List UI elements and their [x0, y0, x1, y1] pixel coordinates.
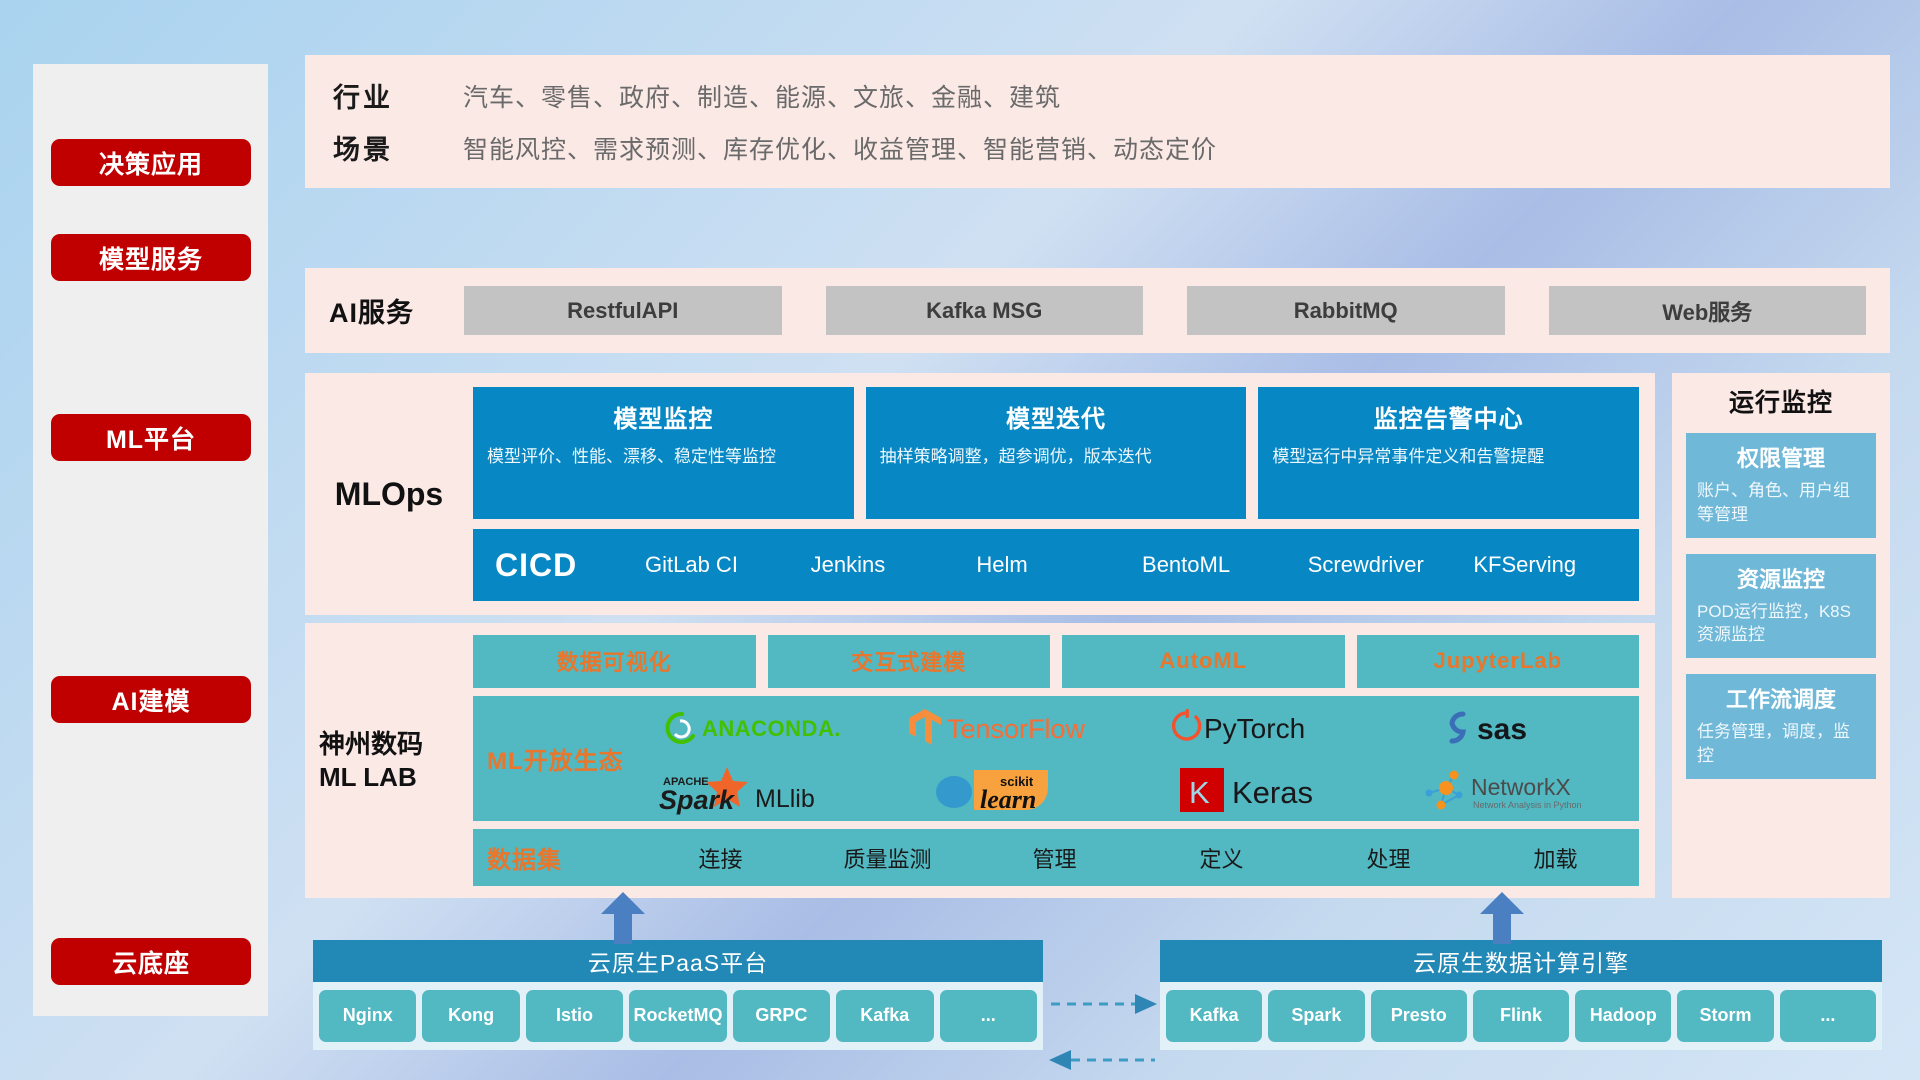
modeling-content: 数据可视化 交互式建模 AutoML JupyterLab ML开放生态 ANA…	[473, 635, 1639, 886]
panel-mlops: MLOps 模型监控 模型评价、性能、漂移、稳定性等监控 模型迭代 抽样策略调整…	[305, 373, 1655, 615]
cloud-chip-grpc[interactable]: GRPC	[733, 990, 830, 1042]
card-desc: 抽样策略调整，超参调优，版本迭代	[880, 445, 1233, 470]
svg-text:ANACONDA.: ANACONDA.	[702, 716, 841, 741]
ml-ecosystem-band: ML开放生态 ANACONDA.	[473, 696, 1639, 821]
panel-runtime-monitoring: 运行监控 权限管理 账户、角色、用户组等管理 资源监控 POD运行监控，K8S资…	[1672, 373, 1890, 898]
panel-ai-services: AI服务 RestfulAPI Kafka MSG RabbitMQ Web服务	[305, 268, 1890, 353]
svg-text:K: K	[1189, 775, 1210, 810]
tool-tab-jupyterlab[interactable]: JupyterLab	[1357, 635, 1640, 688]
cicd-item-screwdriver[interactable]: Screwdriver	[1308, 551, 1474, 579]
monitoring-title: 运行监控	[1686, 383, 1876, 419]
cloud-chip-kafka[interactable]: Kafka	[836, 990, 933, 1042]
card-desc: 账户、角色、用户组等管理	[1697, 479, 1865, 527]
panel-cloud-base: 云原生PaaS平台 Nginx Kong Istio RocketMQ GRPC…	[305, 900, 1890, 1065]
ai-services-list: RestfulAPI Kafka MSG RabbitMQ Web服务	[464, 286, 1866, 335]
panel-decision-apps: 行业 汽车、零售、政府、制造、能源、文旅、金融、建筑 场景 智能风控、需求预测、…	[305, 55, 1890, 188]
scenario-key: 场景	[333, 128, 463, 167]
layer-rail: 决策应用 模型服务 ML平台 AI建模 云底座	[33, 64, 268, 1016]
keras-logo: K Keras	[1138, 766, 1389, 814]
mlops-card-list: 模型监控 模型评价、性能、漂移、稳定性等监控 模型迭代 抽样策略调整，超参调优，…	[473, 387, 1639, 519]
dataset-item-define[interactable]: 定义	[1138, 842, 1305, 874]
cloud-chip-flink[interactable]: Flink	[1473, 990, 1569, 1042]
cloud-chip-spark[interactable]: Spark	[1268, 990, 1364, 1042]
ml-ecosystem-logos: ANACONDA. TensorFlow	[637, 699, 1639, 819]
scenario-row: 场景 智能风控、需求预测、库存优化、收益管理、智能营销、动态定价	[333, 122, 1890, 174]
cicd-item-list: GitLab CI Jenkins Helm BentoML Screwdriv…	[645, 551, 1639, 579]
networkx-logo: NetworkX Network Analysis in Python	[1389, 765, 1640, 815]
service-chip-web[interactable]: Web服务	[1549, 286, 1867, 335]
tool-tab-interactive-modeling[interactable]: 交互式建模	[768, 635, 1051, 688]
ml-lab-label-line1: 神州数码	[319, 728, 473, 761]
svg-text:Spark: Spark	[659, 785, 736, 815]
dataset-item-list: 连接 质量监测 管理 定义 处理 加载	[637, 842, 1639, 874]
service-chip-restfulapi[interactable]: RestfulAPI	[464, 286, 782, 335]
cloud-chip-kong[interactable]: Kong	[422, 990, 519, 1042]
cloud-chip-presto[interactable]: Presto	[1371, 990, 1467, 1042]
ml-lab-label: 神州数码 ML LAB	[305, 728, 473, 793]
tool-tab-data-visualization[interactable]: 数据可视化	[473, 635, 756, 688]
svg-text:PyTorch: PyTorch	[1204, 713, 1305, 744]
panel-ai-modeling: 神州数码 ML LAB 数据可视化 交互式建模 AutoML JupyterLa…	[305, 623, 1655, 898]
rail-label: 决策应用	[99, 145, 203, 181]
rail-label: 云底座	[112, 944, 190, 980]
cloud-group-data-engine: 云原生数据计算引擎 Kafka Spark Presto Flink Hadoo…	[1160, 940, 1882, 1050]
monitoring-card-workflow[interactable]: 工作流调度 任务管理，调度，监控	[1686, 674, 1876, 779]
svg-text:NetworkX: NetworkX	[1471, 774, 1571, 800]
cicd-bar: CICD GitLab CI Jenkins Helm BentoML Scre…	[473, 529, 1639, 601]
up-arrow-paas-icon	[601, 892, 645, 944]
rail-item-ml-platform[interactable]: ML平台	[51, 414, 251, 461]
rail-label: 模型服务	[99, 240, 203, 276]
svg-text:MLlib: MLlib	[755, 785, 815, 813]
dataset-item-manage[interactable]: 管理	[971, 842, 1138, 874]
card-title: 资源监控	[1697, 562, 1865, 594]
cloud-group-paas: 云原生PaaS平台 Nginx Kong Istio RocketMQ GRPC…	[313, 940, 1043, 1050]
industry-value: 汽车、零售、政府、制造、能源、文旅、金融、建筑	[463, 78, 1061, 114]
dataset-item-load[interactable]: 加载	[1472, 842, 1639, 874]
scikit-learn-logo: scikit learn	[888, 764, 1139, 816]
monitoring-card-permission[interactable]: 权限管理 账户、角色、用户组等管理	[1686, 433, 1876, 538]
modeling-tool-tabs: 数据可视化 交互式建模 AutoML JupyterLab	[473, 635, 1639, 688]
rail-label: AI建模	[111, 682, 190, 718]
ml-ecosystem-logo-row-1: ANACONDA. TensorFlow	[637, 699, 1639, 757]
sas-logo: sas	[1389, 707, 1640, 749]
svg-text:Network Analysis in Python: Network Analysis in Python	[1473, 800, 1582, 810]
rail-item-decision-apps[interactable]: 决策应用	[51, 139, 251, 186]
rail-item-model-service[interactable]: 模型服务	[51, 234, 251, 281]
cloud-chip-istio[interactable]: Istio	[526, 990, 623, 1042]
mlops-card-alert-center[interactable]: 监控告警中心 模型运行中异常事件定义和告警提醒	[1258, 387, 1639, 519]
card-desc: 模型运行中异常事件定义和告警提醒	[1272, 445, 1625, 470]
svg-text:Keras: Keras	[1232, 775, 1313, 810]
cicd-title: CICD	[495, 547, 645, 584]
industry-key: 行业	[333, 76, 463, 115]
ai-services-label: AI服务	[329, 291, 464, 330]
ml-ecosystem-label: ML开放生态	[487, 741, 637, 776]
tensorflow-logo: TensorFlow	[888, 707, 1139, 749]
monitoring-card-resource[interactable]: 资源监控 POD运行监控，K8S资源监控	[1686, 554, 1876, 659]
cloud-data-engine-chips: Kafka Spark Presto Flink Hadoop Storm ..…	[1160, 982, 1882, 1050]
card-title: 监控告警中心	[1272, 399, 1625, 434]
cloud-paas-title: 云原生PaaS平台	[313, 940, 1043, 982]
bidirectional-connector	[1047, 986, 1159, 1076]
cloud-chip-nginx[interactable]: Nginx	[319, 990, 416, 1042]
cloud-paas-chips: Nginx Kong Istio RocketMQ GRPC Kafka ...	[313, 982, 1043, 1050]
rail-label: ML平台	[106, 420, 196, 456]
svg-text:learn: learn	[980, 785, 1036, 814]
card-desc: 任务管理，调度，监控	[1697, 720, 1865, 768]
dataset-bar: 数据集 连接 质量监测 管理 定义 处理 加载	[473, 829, 1639, 886]
spark-mllib-logo: APACHE Spark MLlib	[637, 765, 888, 815]
mlops-label: MLOps	[305, 476, 473, 513]
cicd-item-kfserving[interactable]: KFServing	[1473, 551, 1639, 579]
svg-text:sas: sas	[1477, 713, 1527, 746]
cicd-item-gitlab-ci[interactable]: GitLab CI	[645, 551, 811, 579]
anaconda-logo: ANACONDA.	[637, 708, 888, 748]
card-title: 权限管理	[1697, 441, 1865, 473]
dataset-item-connect[interactable]: 连接	[637, 842, 804, 874]
rail-item-ai-modeling[interactable]: AI建模	[51, 676, 251, 723]
cloud-chip-kafka2[interactable]: Kafka	[1166, 990, 1262, 1042]
card-title: 工作流调度	[1697, 682, 1865, 714]
mlops-card-model-monitoring[interactable]: 模型监控 模型评价、性能、漂移、稳定性等监控	[473, 387, 854, 519]
pytorch-logo: PyTorch	[1138, 707, 1389, 749]
dataset-label: 数据集	[487, 840, 637, 875]
ml-lab-label-line2: ML LAB	[319, 761, 473, 794]
card-desc: 模型评价、性能、漂移、稳定性等监控	[487, 445, 840, 470]
card-desc: POD运行监控，K8S资源监控	[1697, 600, 1865, 648]
tool-tab-automl[interactable]: AutoML	[1062, 635, 1345, 688]
cicd-item-helm[interactable]: Helm	[976, 551, 1142, 579]
cloud-chip-more2[interactable]: ...	[1780, 990, 1876, 1042]
ml-ecosystem-logo-row-2: APACHE Spark MLlib scikit learn	[637, 761, 1639, 819]
industry-row: 行业 汽车、零售、政府、制造、能源、文旅、金融、建筑	[333, 70, 1890, 122]
cloud-chip-rocketmq[interactable]: RocketMQ	[629, 990, 726, 1042]
cloud-chip-more[interactable]: ...	[940, 990, 1037, 1042]
cloud-chip-hadoop[interactable]: Hadoop	[1575, 990, 1671, 1042]
svg-text:TensorFlow: TensorFlow	[947, 714, 1086, 744]
dataset-item-quality[interactable]: 质量监测	[804, 842, 971, 874]
card-title: 模型监控	[487, 399, 840, 434]
cicd-item-jenkins[interactable]: Jenkins	[811, 551, 977, 579]
card-title: 模型迭代	[880, 399, 1233, 434]
dataset-item-process[interactable]: 处理	[1305, 842, 1472, 874]
cloud-data-engine-title: 云原生数据计算引擎	[1160, 940, 1882, 982]
mlops-card-model-iteration[interactable]: 模型迭代 抽样策略调整，超参调优，版本迭代	[866, 387, 1247, 519]
rail-item-cloud-base[interactable]: 云底座	[51, 938, 251, 985]
service-chip-kafka-msg[interactable]: Kafka MSG	[826, 286, 1144, 335]
service-chip-rabbitmq[interactable]: RabbitMQ	[1187, 286, 1505, 335]
scenario-value: 智能风控、需求预测、库存优化、收益管理、智能营销、动态定价	[463, 130, 1217, 166]
cloud-chip-storm[interactable]: Storm	[1677, 990, 1773, 1042]
up-arrow-data-engine-icon	[1480, 892, 1524, 944]
cicd-item-bentoml[interactable]: BentoML	[1142, 551, 1308, 579]
mlops-content: 模型监控 模型评价、性能、漂移、稳定性等监控 模型迭代 抽样策略调整，超参调优，…	[473, 387, 1639, 601]
